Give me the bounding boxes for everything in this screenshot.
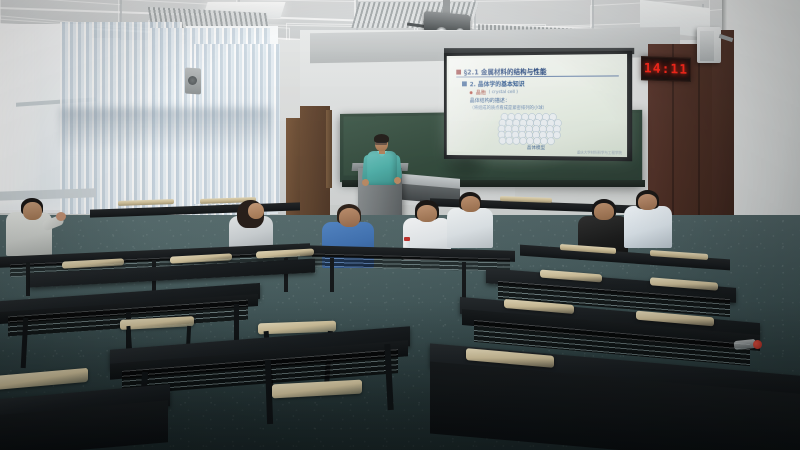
chalkboard-frame-left [326,110,332,188]
wall-led-clock: 14:11 [641,56,691,82]
desk-leg [462,262,466,298]
clock-time: 14:11 [644,61,688,78]
lecturer-hand-left [362,179,369,186]
slide-title: §2.1 金属材料的结构与性能 [464,66,547,77]
lattice-svg [497,109,576,147]
slide-bullet-1-cn: 晶胞 [476,89,486,96]
crystal-lattice-figure [497,109,576,147]
student-head [248,203,264,219]
slide-subtitle-row: 2. 晶体学的基本知识 [462,79,525,88]
student-head [339,208,360,227]
glasses-icon [375,142,387,145]
window-light-glow [0,30,40,205]
student-body [447,208,493,248]
slide-title-underline [456,75,619,77]
speaker-grille-icon [700,31,714,61]
lecturer-hand-right [394,177,401,184]
projection-screen: §2.1 金属材料的结构与性能 2. 晶体学的基本知识 晶胞 ( crystal… [447,54,627,157]
bullet-square-icon [456,69,461,74]
slide-bullet-row-1: 晶胞 ( crystal cell ) [470,89,518,96]
slide-bullet-1-en: ( crystal cell ) [489,90,518,95]
slide-subtitle: 2. 晶体学的基本知识 [470,79,525,88]
lattice-caption: 晶体模型 [506,145,565,152]
bottle-cap [404,237,410,241]
student-head [23,202,42,220]
desk-leg [330,258,334,292]
curtain-shadow [60,108,272,150]
student-hand [56,212,66,221]
student-head [461,196,480,212]
student-head [638,194,657,210]
student-head [594,203,614,220]
bullet-dot-icon [470,91,473,94]
student-head [417,205,437,222]
slide-footer: 重庆大学材料科学与工程学院 [577,149,622,155]
bullet-square-icon [462,81,467,86]
student-body [624,206,672,248]
speaker-cone-icon [188,76,197,85]
classroom-photo: 14:11 §2.1 金属材料的结构与性能 2. 晶体学的基本知识 晶胞 ( c… [0,0,800,450]
wood-seam [698,44,700,240]
slide-line-4: 晶体结构的描述： [470,97,510,104]
